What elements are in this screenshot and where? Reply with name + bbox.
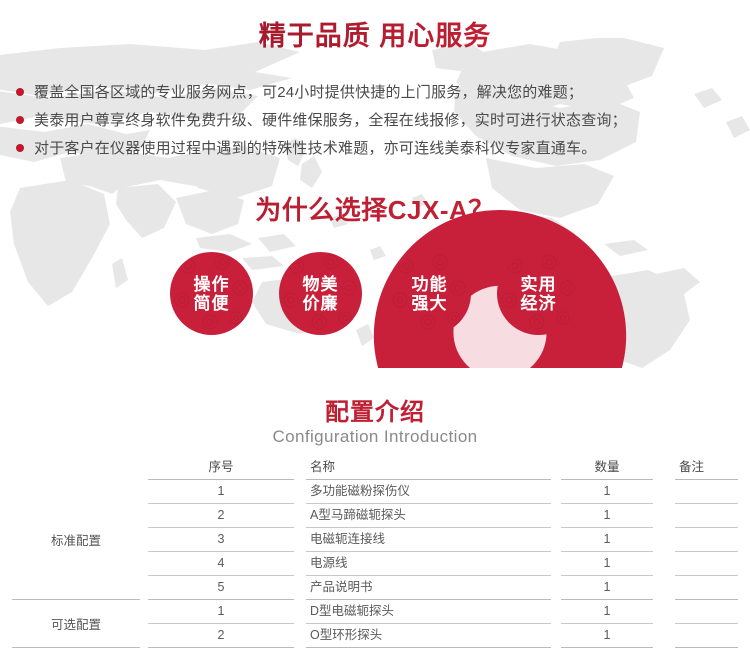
config-section-title: 配置介绍 bbox=[0, 392, 750, 427]
cell-no: 1 bbox=[148, 600, 294, 623]
feature-badge-3[interactable]: 功能 强大 bbox=[388, 252, 471, 335]
cell-note bbox=[675, 600, 738, 623]
cell-note bbox=[675, 528, 738, 551]
configuration-table-wrap: 序号 名称 数量 备注 标准配置 1 多功能磁粉探伤仪 1 2 A bbox=[12, 456, 738, 648]
cell-qty: 1 bbox=[561, 504, 653, 527]
table-row: 标准配置 1 多功能磁粉探伤仪 1 bbox=[12, 480, 738, 504]
cell-qty: 1 bbox=[561, 552, 653, 575]
group-label-text: 可选配置 bbox=[12, 614, 140, 633]
cell-name: 电磁轭连接线 bbox=[306, 528, 551, 551]
cell-qty: 1 bbox=[561, 624, 653, 647]
bullet-dot-icon bbox=[16, 88, 24, 96]
cell-qty: 1 bbox=[561, 576, 653, 599]
column-header-note: 备注 bbox=[675, 456, 738, 479]
cell-qty: 1 bbox=[561, 600, 653, 623]
badge-label-line1: 物美 bbox=[303, 275, 339, 294]
cell-name: D型电磁轭探头 bbox=[306, 600, 551, 623]
feature-badge-row: 操作 简便 物美 价廉 bbox=[0, 252, 750, 335]
cell-name: O型环形探头 bbox=[306, 624, 551, 647]
page-headline: 精于品质 用心服务 bbox=[0, 14, 750, 53]
configuration-table: 序号 名称 数量 备注 标准配置 1 多功能磁粉探伤仪 1 2 A bbox=[12, 456, 738, 648]
cell-no: 2 bbox=[148, 504, 294, 527]
table-header-row: 序号 名称 数量 备注 bbox=[12, 456, 738, 480]
group-label-text: 标准配置 bbox=[12, 530, 140, 549]
cell-note bbox=[675, 552, 738, 575]
badge-label-line2: 简便 bbox=[194, 294, 230, 313]
cell-no: 1 bbox=[148, 480, 294, 503]
cell-name: A型马蹄磁轭探头 bbox=[306, 504, 551, 527]
cell-no: 2 bbox=[148, 624, 294, 647]
cell-note bbox=[675, 624, 738, 647]
column-header-no: 序号 bbox=[148, 456, 294, 479]
list-item: 美泰用户尊享终身软件免费升级、硬件维保服务，全程在线报修，实时可进行状态查询； bbox=[16, 110, 742, 131]
badge-label-line1: 功能 bbox=[412, 275, 448, 294]
feature-badge-2[interactable]: 物美 价廉 bbox=[279, 252, 362, 335]
bullet-dot-icon bbox=[16, 116, 24, 124]
badge-label-line1: 实用 bbox=[521, 275, 557, 294]
column-header-name: 名称 bbox=[306, 456, 551, 479]
badge-label-line2: 经济 bbox=[521, 294, 557, 313]
cell-qty: 1 bbox=[561, 528, 653, 551]
cell-no: 5 bbox=[148, 576, 294, 599]
list-item: 对于客户在仪器使用过程中遇到的特殊性技术难题，亦可连线美泰科仪专家直通车。 bbox=[16, 138, 742, 159]
column-header-qty: 数量 bbox=[561, 456, 653, 479]
cell-note bbox=[675, 504, 738, 527]
cell-name: 多功能磁粉探伤仪 bbox=[306, 480, 551, 503]
cell-name: 产品说明书 bbox=[306, 576, 551, 599]
feature-badge-4[interactable]: 实用 经济 bbox=[497, 252, 580, 335]
bullet-text: 美泰用户尊享终身软件免费升级、硬件维保服务，全程在线报修，实时可进行状态查询； bbox=[34, 110, 627, 131]
feature-badge-1[interactable]: 操作 简便 bbox=[170, 252, 253, 335]
group-label-optional: 可选配置 bbox=[12, 600, 140, 648]
cell-note bbox=[675, 480, 738, 503]
bullet-dot-icon bbox=[16, 144, 24, 152]
group-label-standard: 标准配置 bbox=[12, 480, 140, 600]
config-section-subtitle: Configuration Introduction bbox=[0, 427, 750, 447]
badge-label-line2: 强大 bbox=[412, 294, 448, 313]
service-bullet-list: 覆盖全国各区域的专业服务网点，可24小时提供快捷的上门服务，解决您的难题； 美泰… bbox=[16, 82, 742, 166]
cell-no: 4 bbox=[148, 552, 294, 575]
cell-note bbox=[675, 576, 738, 599]
list-item: 覆盖全国各区域的专业服务网点，可24小时提供快捷的上门服务，解决您的难题； bbox=[16, 82, 742, 103]
cell-no: 3 bbox=[148, 528, 294, 551]
bullet-text: 覆盖全国各区域的专业服务网点，可24小时提供快捷的上门服务，解决您的难题； bbox=[34, 82, 583, 103]
cell-qty: 1 bbox=[561, 480, 653, 503]
why-choose-title: 为什么选择CJX-A？ bbox=[0, 190, 750, 227]
badge-label-line2: 价廉 bbox=[303, 294, 339, 313]
badge-label-line1: 操作 bbox=[194, 275, 230, 294]
bullet-text: 对于客户在仪器使用过程中遇到的特殊性技术难题，亦可连线美泰科仪专家直通车。 bbox=[34, 138, 596, 159]
cell-name: 电源线 bbox=[306, 552, 551, 575]
table-row: 可选配置 1 D型电磁轭探头 1 bbox=[12, 600, 738, 624]
